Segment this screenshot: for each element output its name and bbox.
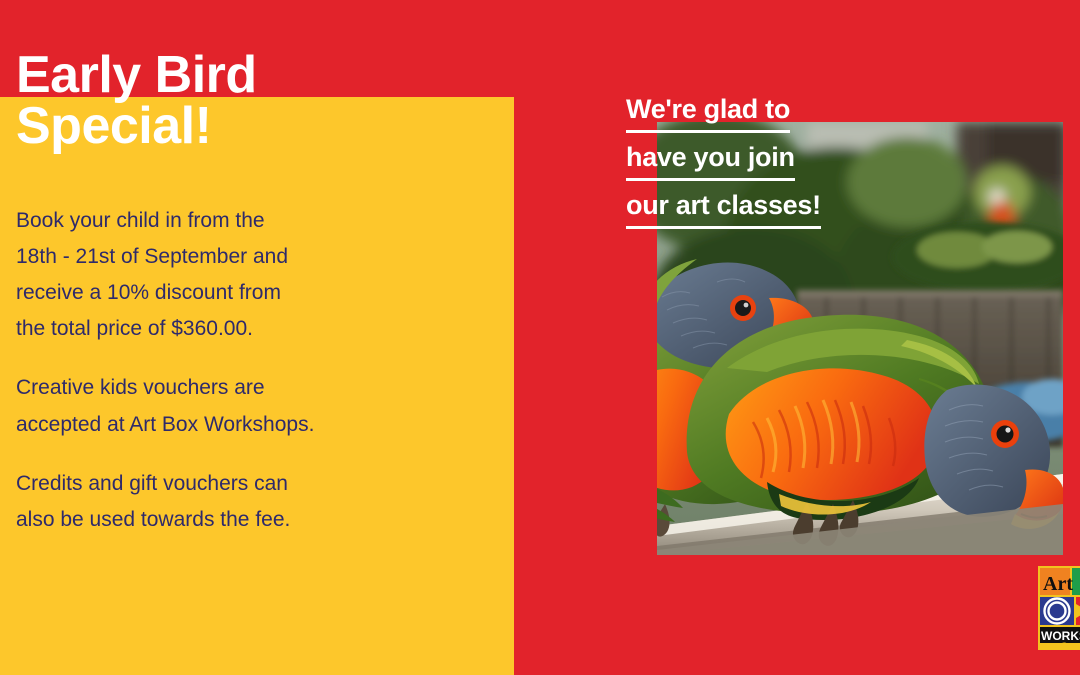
promo-paragraph-booking: Book your child in from the 18th - 21st … — [16, 203, 416, 347]
logo-text-art: Art — [1043, 573, 1073, 595]
promo-paragraph-vouchers: Creative kids vouchers are accepted at A… — [16, 370, 416, 442]
promo-paragraph-credits: Credits and gift vouchers can also be us… — [16, 466, 416, 538]
page-title: Early Bird Special! — [16, 50, 536, 152]
welcome-heading: We're glad to have you join our art clas… — [626, 90, 956, 234]
welcome-heading-line-2: have you join — [626, 138, 795, 181]
logo-mark: Art WORKSH O — [1038, 566, 1080, 650]
art-box-workshops-logo: Art WORKSH O — [1038, 566, 1080, 650]
logo-accent-letter: O — [1060, 641, 1069, 650]
welcome-heading-line-1: We're glad to — [626, 90, 790, 133]
promo-details-text: Book your child in from the 18th - 21st … — [16, 203, 416, 538]
welcome-heading-line-3: our art classes! — [626, 186, 821, 229]
